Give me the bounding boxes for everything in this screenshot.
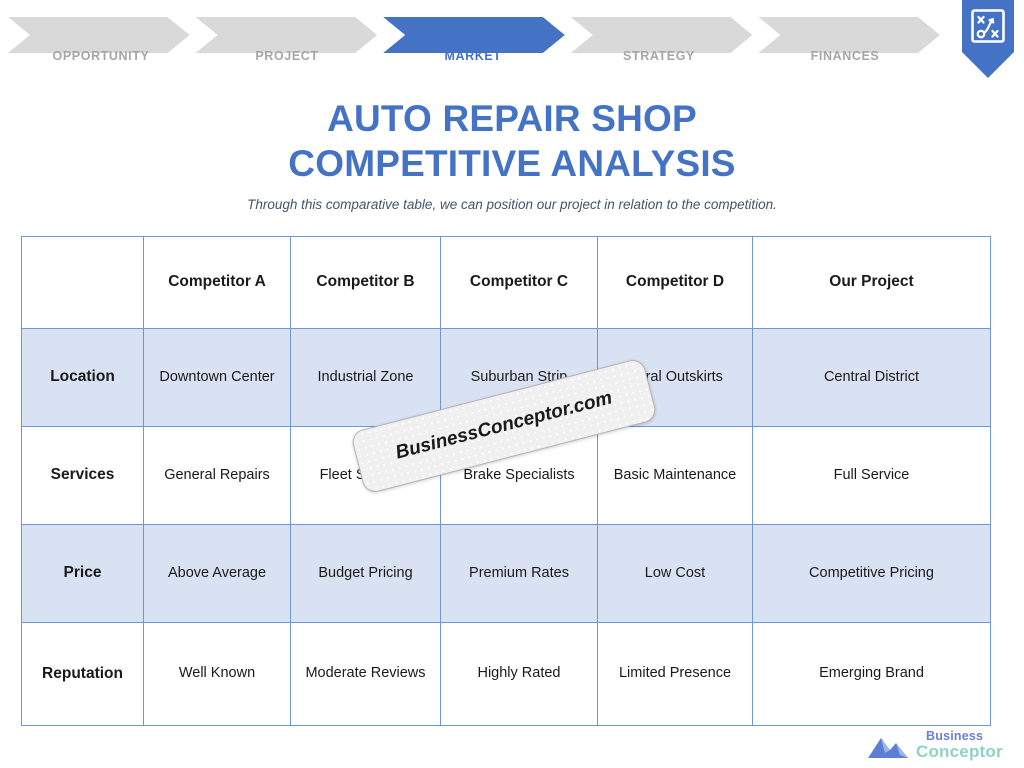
table-header-our-project: Our Project <box>753 237 991 329</box>
process-step-label-finances: FINANCES <box>752 46 938 66</box>
strategy-playbook-icon <box>969 7 1007 45</box>
row-label-services: Services <box>22 427 144 525</box>
footer-logo-word-conceptor: Conceptor <box>916 743 1003 760</box>
cell-reputation-competitor-b: Moderate Reviews <box>291 623 441 726</box>
footer-logo-words: Business Conceptor <box>916 730 1003 766</box>
footer-logo: Business Conceptor <box>866 730 1016 766</box>
competitive-analysis-table: Competitor A Competitor B Competitor C C… <box>21 236 991 726</box>
cell-reputation-our-project: Emerging Brand <box>753 623 991 726</box>
cell-services-competitor-d: Basic Maintenance <box>598 427 753 525</box>
mountain-peaks-icon <box>866 734 922 760</box>
table-header-competitor-d: Competitor D <box>598 237 753 329</box>
page-title-line1: AUTO REPAIR SHOP <box>0 96 1024 141</box>
row-label-location: Location <box>22 329 144 427</box>
cell-price-our-project: Competitive Pricing <box>753 525 991 623</box>
process-nav: OPPORTUNITY PROJECT MARKET STRATEGY FINA… <box>0 0 1024 86</box>
cell-services-our-project: Full Service <box>753 427 991 525</box>
table-row-reputation: Reputation Well Known Moderate Reviews H… <box>22 623 991 726</box>
cell-reputation-competitor-c: Highly Rated <box>441 623 598 726</box>
pin-tip <box>962 52 1014 78</box>
cell-price-competitor-c: Premium Rates <box>441 525 598 623</box>
row-label-reputation: Reputation <box>22 623 144 726</box>
process-step-label-market: MARKET <box>380 46 566 66</box>
cell-price-competitor-b: Budget Pricing <box>291 525 441 623</box>
table-header-competitor-c: Competitor C <box>441 237 598 329</box>
cell-services-competitor-a: General Repairs <box>144 427 291 525</box>
process-step-label-project: PROJECT <box>194 46 380 66</box>
cell-reputation-competitor-a: Well Known <box>144 623 291 726</box>
table-row-price: Price Above Average Budget Pricing Premi… <box>22 525 991 623</box>
page-subtitle: Through this comparative table, we can p… <box>0 197 1024 212</box>
brand-pin-badge <box>962 0 1014 78</box>
cell-price-competitor-a: Above Average <box>144 525 291 623</box>
table-header-competitor-a: Competitor A <box>144 237 291 329</box>
cell-price-competitor-d: Low Cost <box>598 525 753 623</box>
cell-location-competitor-a: Downtown Center <box>144 329 291 427</box>
page-title-line2: COMPETITIVE ANALYSIS <box>0 141 1024 186</box>
process-step-label-strategy: STRATEGY <box>566 46 752 66</box>
row-label-price: Price <box>22 525 144 623</box>
cell-reputation-competitor-d: Limited Presence <box>598 623 753 726</box>
process-step-label-opportunity: OPPORTUNITY <box>8 46 194 66</box>
table-corner-cell <box>22 237 144 329</box>
title-block: AUTO REPAIR SHOP COMPETITIVE ANALYSIS Th… <box>0 96 1024 212</box>
table-header-competitor-b: Competitor B <box>291 237 441 329</box>
cell-location-our-project: Central District <box>753 329 991 427</box>
table-header-row: Competitor A Competitor B Competitor C C… <box>22 237 991 329</box>
cell-location-competitor-b: Industrial Zone <box>291 329 441 427</box>
